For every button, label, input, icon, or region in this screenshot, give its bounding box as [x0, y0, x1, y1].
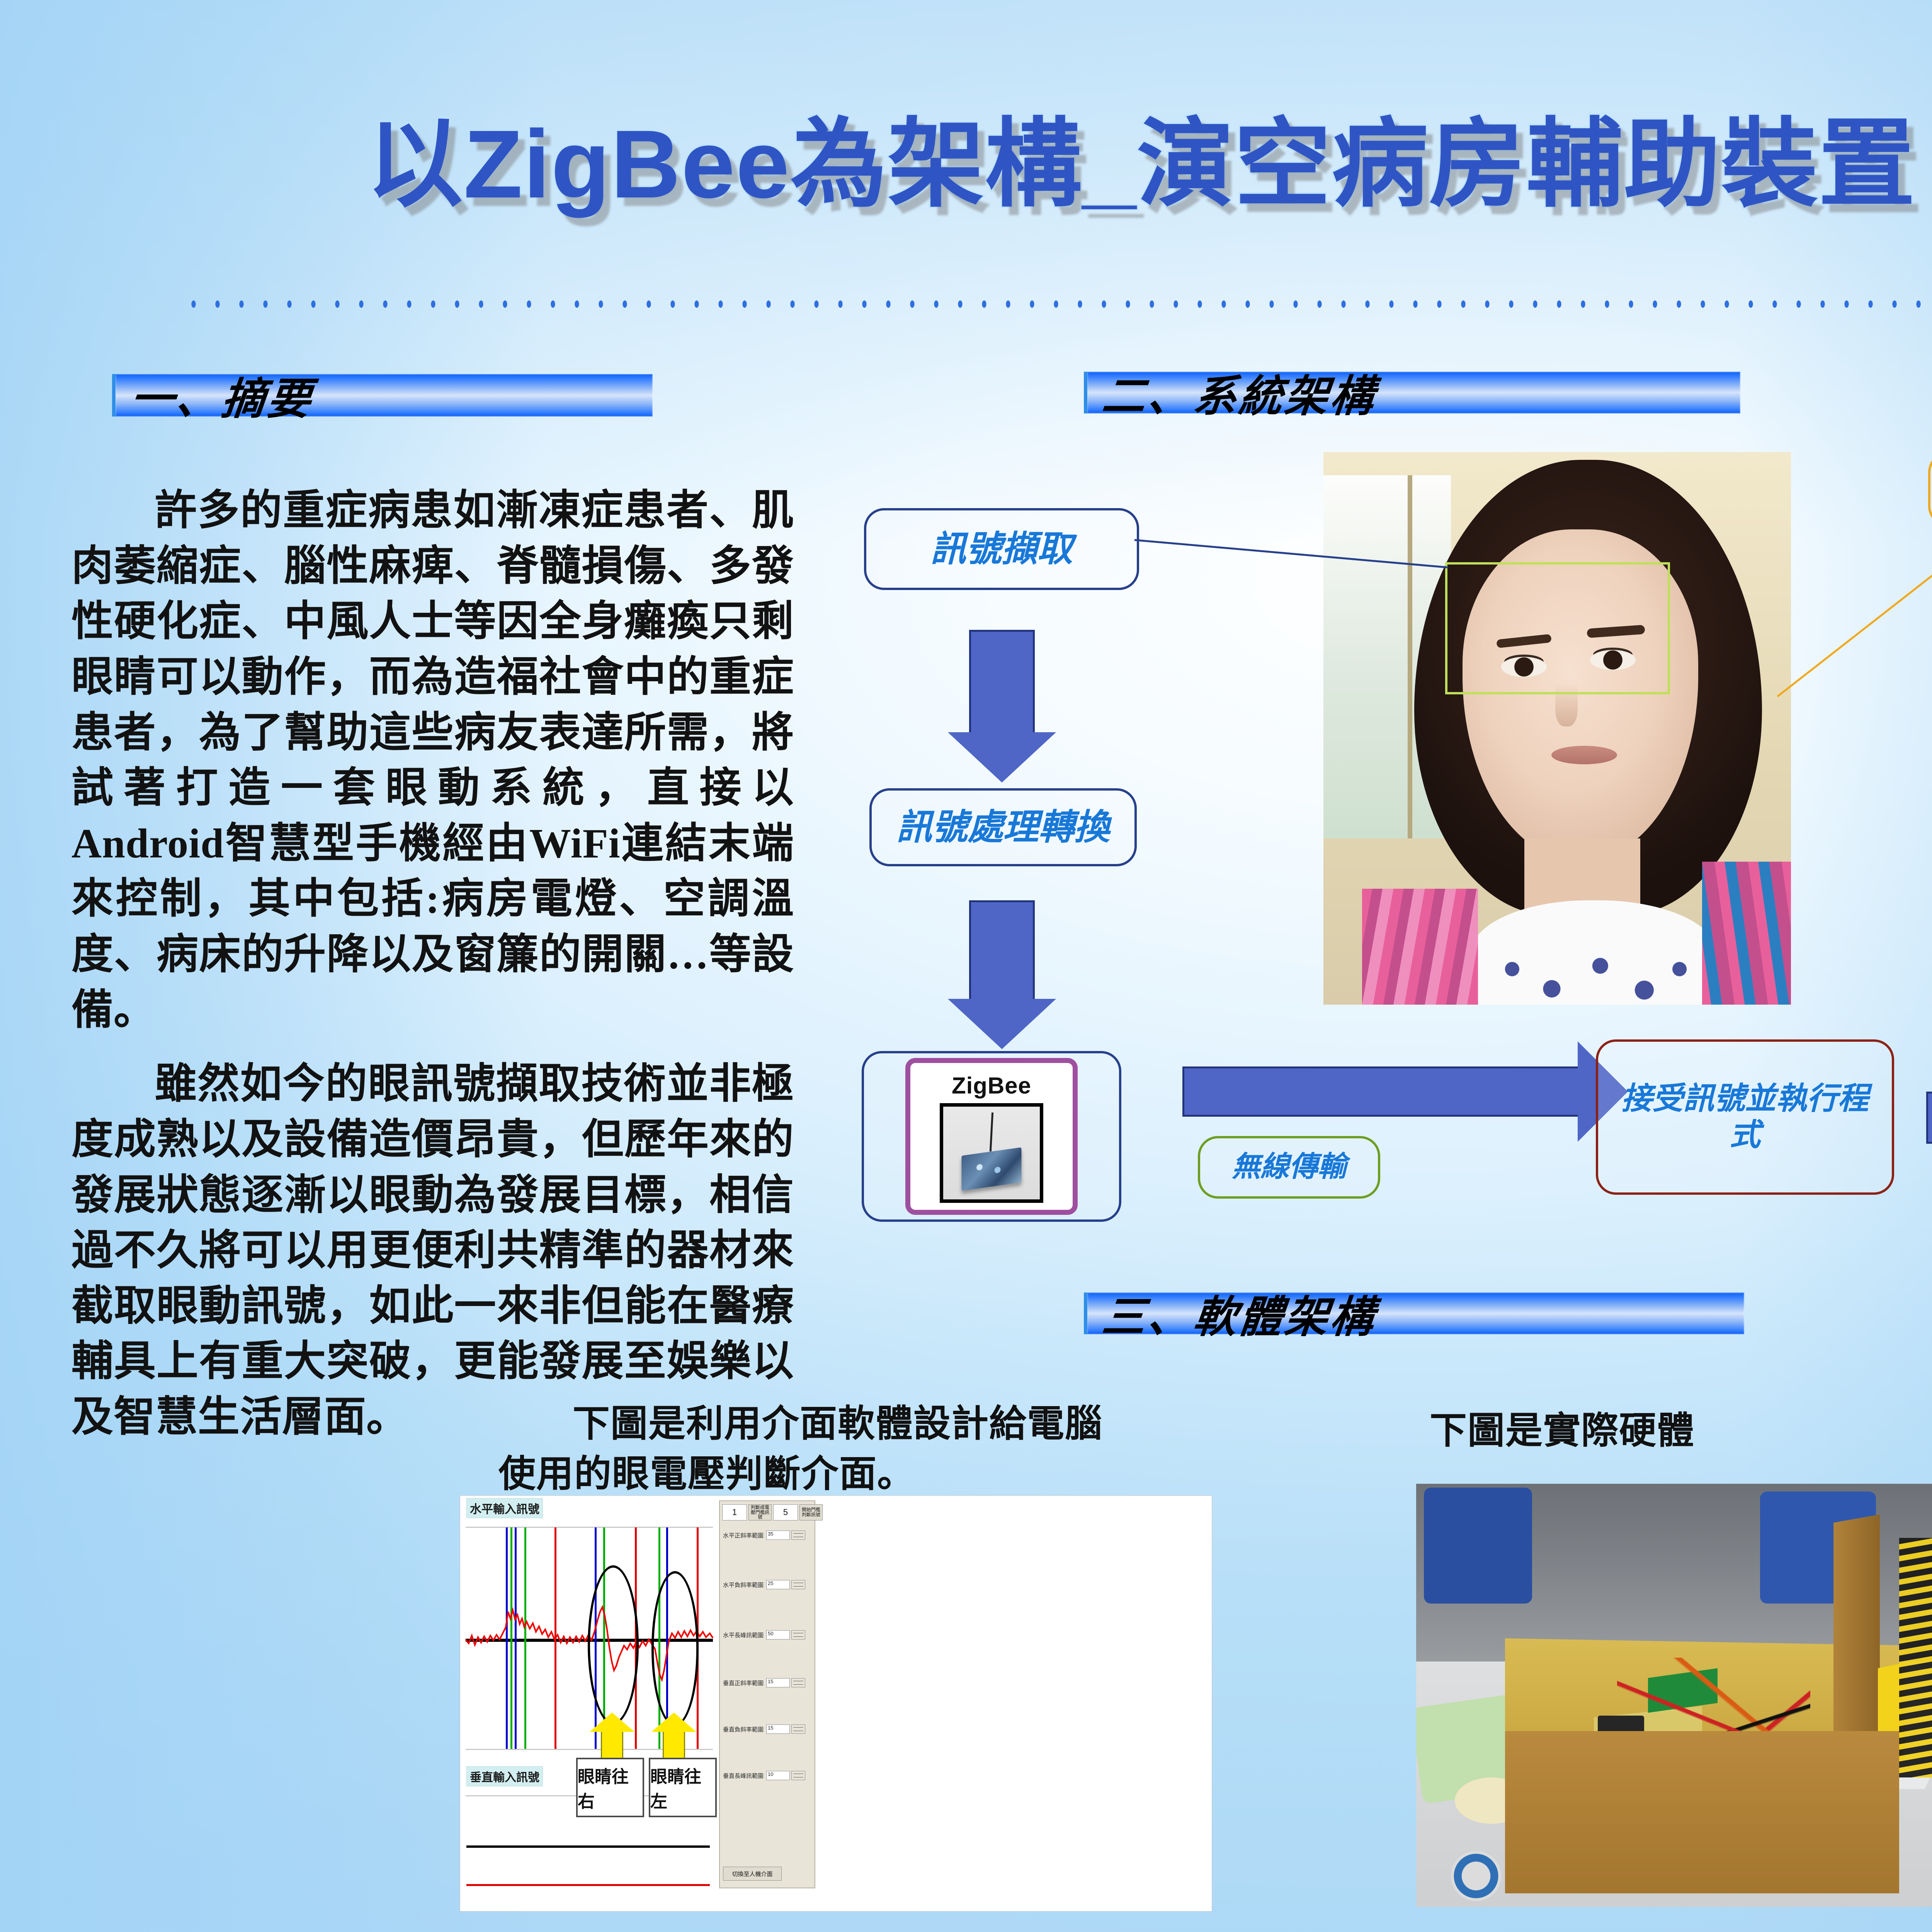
panel-row-v-peak: 垂直長峰訊範圍 10 — [723, 1768, 813, 1783]
panel-top-controls: 1 判斷成電壓門檻訊號 5 開始門檻判斷訊號 — [722, 1504, 823, 1520]
section-header-system-label: 二、系統架構 — [1084, 361, 1379, 424]
flow-box-signal-acquisition-label: 訊號擷取 — [930, 528, 1073, 570]
panel-stepper-v-peak[interactable] — [791, 1771, 805, 1780]
callout-eye-look-right: 眼睛往右 — [576, 1758, 644, 1817]
photo-jacket-left — [1362, 889, 1478, 1005]
zigbee-pcb — [962, 1147, 1022, 1191]
flow-box-receive-and-execute[interactable]: 接受訊號並執行程式 — [1596, 1039, 1894, 1195]
zigbee-module-card: ZigBee — [905, 1058, 1078, 1215]
section-header-software-label: 三、軟體架構 — [1084, 1282, 1379, 1345]
panel-row-h-peak: 水平長峰訊範圍 50 — [723, 1627, 813, 1643]
face-detection-rectangle — [1445, 562, 1670, 694]
panel-row-v-neg-slope: 垂直負斜率範圍 15 — [723, 1721, 813, 1737]
arrow-head-down — [948, 999, 1056, 1049]
panel-right-number[interactable]: 5 — [773, 1504, 798, 1520]
flow-box-signal-acquisition[interactable]: 訊號擷取 — [864, 508, 1139, 590]
section-header-software-architecture: 三、軟體架構 — [1084, 1293, 1744, 1334]
panel-value-v-neg-slope[interactable]: 15 — [766, 1725, 790, 1734]
eye-tracking-subject-photo — [1323, 452, 1791, 1005]
section-header-abstract-label: 一、摘要 — [112, 364, 316, 427]
flow-box-zigbee-transmitter[interactable]: ZigBee — [862, 1051, 1121, 1222]
panel-stepper-h-peak[interactable] — [791, 1630, 805, 1639]
flow-box-signal-processing[interactable]: 訊號處理轉換 — [869, 788, 1137, 866]
panel-right-button[interactable]: 開始門檻判斷訊號 — [799, 1504, 823, 1520]
hardware-prototype-photo — [1416, 1484, 1932, 1907]
second-plot-baseline — [466, 1845, 710, 1848]
panel-value-h-peak[interactable]: 50 — [766, 1630, 790, 1639]
arrow-right-wireless-transmission — [1182, 1066, 1580, 1117]
second-plot-trace — [466, 1884, 710, 1886]
arrow-head-down — [948, 732, 1056, 782]
yellow-arrow-head — [651, 1713, 696, 1732]
photo-window-frame — [1408, 475, 1412, 838]
page-title: 以ZigBee為架構_演空病房輔助裝置 — [0, 116, 1932, 213]
highlight-ellipse-look-right — [588, 1565, 639, 1725]
section-header-abstract: 一、摘要 — [112, 374, 653, 417]
panel-label-h-peak: 水平長峰訊範圍 — [723, 1631, 765, 1639]
flow-box-signal-processing-label: 訊號處理轉換 — [896, 806, 1110, 849]
panel-row-v-pos-slope: 垂直正斜率範圍 15 — [723, 1675, 813, 1690]
zigbee-antenna — [990, 1112, 993, 1151]
yellow-arrow-head — [590, 1713, 634, 1732]
panel-row-h-pos-slope: 水平正斜率範圍 35 — [723, 1527, 813, 1543]
panel-stepper-v-neg-slope[interactable] — [791, 1725, 805, 1734]
photo-jacket-right — [1702, 862, 1791, 1005]
section-header-system-architecture: 二、系統架構 — [1084, 372, 1740, 413]
photo-shirt-print — [1486, 943, 1706, 1005]
flow-box-receive-and-execute-label: 接受訊號並執行程式 — [1610, 1081, 1880, 1154]
photo-mouth — [1551, 746, 1617, 764]
panel-label-h-pos-slope: 水平正斜率範圍 — [723, 1531, 765, 1539]
panel-left-number[interactable]: 1 — [722, 1504, 747, 1520]
chip-vertical-input-signal: 垂直輸入訊號 — [466, 1766, 543, 1786]
abstract-paragraph-2: 雖然如今的眼訊號擷取技術並非極度成熟以及設備造價昂貴，但歷年來的發展狀態逐漸以眼… — [71, 1056, 794, 1445]
panel-label-v-pos-slope: 垂直正斜率範圍 — [723, 1679, 765, 1687]
photo-solder-spool — [1451, 1851, 1501, 1901]
yellow-arrow-look-left — [663, 1730, 685, 1760]
threshold-control-panel: 1 判斷成電壓門檻訊號 5 開始門檻判斷訊號 水平正斜率範圍 35 水平負斜率範… — [719, 1500, 815, 1888]
panel-value-h-neg-slope[interactable]: 25 — [766, 1580, 790, 1589]
title-dotted-divider — [182, 298, 1932, 311]
arrow-down-processing-to-zigbee — [969, 900, 1035, 1001]
arrow-up-elbow-horizontal — [1926, 1092, 1932, 1144]
photo-enclosure-front — [1505, 1731, 1899, 1893]
zigbee-card-label: ZigBee — [952, 1072, 1031, 1100]
yellow-arrow-look-right — [601, 1730, 623, 1760]
panel-label-h-neg-slope: 水平負斜率範圍 — [723, 1581, 765, 1589]
panel-value-v-peak[interactable]: 10 — [766, 1771, 790, 1780]
panel-stepper-v-pos-slope[interactable] — [791, 1678, 805, 1687]
label-box-wireless-transmission-1[interactable]: 無線傳輸 — [1198, 1136, 1380, 1199]
panel-row-h-neg-slope: 水平負斜率範圍 25 — [723, 1577, 813, 1592]
caption-hardware-photo: 下圖是實際硬體 — [1430, 1406, 1777, 1456]
panel-stepper-h-pos-slope[interactable] — [791, 1531, 805, 1540]
arrow-down-acquisition-to-processing — [969, 630, 1035, 734]
zigbee-module-photo — [940, 1103, 1043, 1203]
panel-switch-to-hmi-button[interactable]: 切換至人機介面 — [723, 1867, 782, 1881]
panel-label-v-peak: 垂直長峰訊範圍 — [723, 1772, 765, 1780]
highlight-ellipse-look-left — [651, 1571, 699, 1726]
panel-value-v-pos-slope[interactable]: 15 — [766, 1678, 790, 1687]
abstract-text-block: 許多的重症病患如漸凍症患者、肌肉萎縮症、腦性麻痺、脊髓損傷、多發性硬化症、中風人… — [71, 483, 794, 1464]
panel-left-button[interactable]: 判斷成電壓門檻訊號 — [748, 1504, 772, 1520]
callout-eye-look-left: 眼睛往左 — [649, 1758, 717, 1817]
panel-value-h-pos-slope[interactable]: 35 — [766, 1531, 790, 1540]
caption-software-interface: 下圖是利用介面軟體設計給電腦使用的眼電壓判斷介面。 — [498, 1399, 1117, 1499]
panel-label-v-neg-slope: 垂直負斜率範圍 — [723, 1725, 765, 1733]
photo-chair-left — [1424, 1488, 1532, 1604]
software-interface-screenshot: 水平輸入訊號 垂直輸入訊號 眼睛往右 眼睛往左 1 判斷成電壓門檻訊號 5 開始… — [460, 1495, 1212, 1912]
photo-cable-chain — [1899, 1538, 1932, 1777]
panel-stepper-h-neg-slope[interactable] — [791, 1580, 805, 1589]
label-wireless-transmission-1: 無線傳輸 — [1232, 1150, 1346, 1184]
abstract-paragraph-1: 許多的重症病患如漸凍症患者、肌肉萎縮症、腦性麻痺、脊髓損傷、多發性硬化症、中風人… — [71, 483, 794, 1038]
